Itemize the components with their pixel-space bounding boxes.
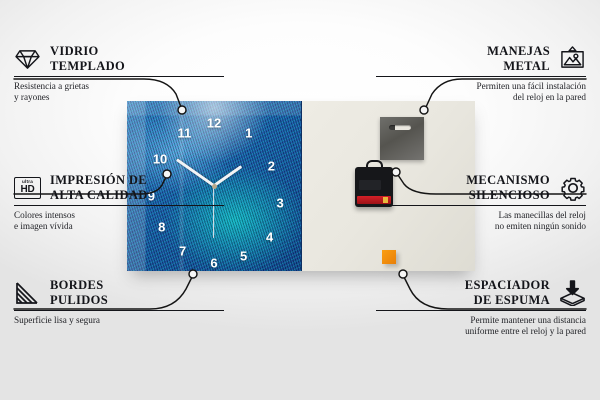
feature-desc-line1: Permite mantener una distancia [376,315,586,326]
feature-title-line1: IMPRESIÓN DE [50,173,148,188]
feature-desc-line2: no emiten ningún sonido [376,221,586,232]
clock-numeral-3: 3 [276,197,283,210]
foam-spacer-pad [382,250,396,264]
feature-title: MECANISMO SILENCIOSO [466,173,550,202]
feature-title: MANEJAS METAL [487,44,550,73]
feature-title-line2: TEMPLADO [50,59,125,74]
feature-header: BORDES PULIDOS [14,278,224,310]
connector-dot-bordes [189,270,197,278]
framed-picture-hanging-icon [559,45,586,72]
metal-hanger-plate [380,117,424,160]
clock-numeral-7: 7 [179,244,186,257]
mechanism-hanger-loop [366,160,383,169]
feature-title-line2: SILENCIOSO [466,188,550,203]
clock-numeral-2: 2 [268,159,275,172]
feature-desc-line1: Las manecillas del reloj [376,210,586,221]
feature-impresion-alta-calidad[interactable]: ultra HD IMPRESIÓN DE ALTA CALIDAD Color… [14,173,224,232]
feature-espaciador-de-espuma[interactable]: ESPACIADOR DE ESPUMA Permite mantener un… [376,278,586,337]
infographic-canvas: 12 1 2 3 4 5 6 7 8 9 10 11 [0,0,600,400]
feature-desc-line2: y rayones [14,92,224,103]
feature-header: MECANISMO SILENCIOSO [376,173,586,205]
feature-description: Permiten una fácil instalación del reloj… [376,77,586,103]
feature-title-line2: ALTA CALIDAD [50,188,148,203]
feature-description: Superficie lisa y segura [14,311,224,326]
feature-vidrio-templado[interactable]: VIDRIO TEMPLADO Resistencia a grietas y … [14,44,224,103]
feature-manejas-metal[interactable]: MANEJAS METAL Permiten una fácil instala… [376,44,586,103]
feature-description: Resistencia a grietas y rayones [14,77,224,103]
feature-mecanismo-silencioso[interactable]: MECANISMO SILENCIOSO Las manecillas del … [376,173,586,232]
clock-numeral-10: 10 [153,152,167,165]
feature-title-line2: METAL [487,59,550,74]
beveled-edge-icon [14,279,41,306]
feature-header: MANEJAS METAL [376,44,586,76]
feature-desc-line1: Superficie lisa y segura [14,315,224,326]
arrow-down-foam-icon [559,279,586,306]
feature-bordes-pulidos[interactable]: BORDES PULIDOS Superficie lisa y segura [14,278,224,326]
feature-desc-line1: Permiten una fácil instalación [376,81,586,92]
feature-header: VIDRIO TEMPLADO [14,44,224,76]
clock-numeral-6: 6 [210,256,217,269]
clock-numeral-12: 12 [207,117,221,130]
ultra-hd-icon-big-text: HD [20,185,34,195]
diamond-icon [14,45,41,72]
feature-description: Permite mantener una distancia uniforme … [376,311,586,337]
feature-title-line1: ESPACIADOR [465,278,550,293]
feature-title: VIDRIO TEMPLADO [50,44,125,73]
feature-title-line2: PULIDOS [50,293,108,308]
feature-title-line1: VIDRIO [50,44,125,59]
clock-numeral-1: 1 [245,127,252,140]
feature-title-line1: MANEJAS [487,44,550,59]
gear-icon [559,174,586,201]
feature-title-line1: BORDES [50,278,108,293]
ultra-hd-icon: ultra HD [14,174,41,201]
feature-desc-line2: uniforme entre el reloj y la pared [376,326,586,337]
feature-desc-line1: Resistencia a grietas [14,81,224,92]
feature-title-line1: MECANISMO [466,173,550,188]
feature-desc-line1: Colores intensos [14,210,224,221]
clock-numeral-4: 4 [266,231,273,244]
feature-title: ESPACIADOR DE ESPUMA [465,278,550,307]
feature-description: Colores intensos e imagen vívida [14,206,224,232]
feature-header: ESPACIADOR DE ESPUMA [376,278,586,310]
connector-dot-espaciador [399,270,407,278]
feature-description: Las manecillas del reloj no emiten ningú… [376,206,586,232]
clock-numeral-11: 11 [178,127,192,140]
feature-title: BORDES PULIDOS [50,278,108,307]
feature-title: IMPRESIÓN DE ALTA CALIDAD [50,173,148,202]
feature-header: ultra HD IMPRESIÓN DE ALTA CALIDAD [14,173,224,205]
feature-desc-line2: e imagen vívida [14,221,224,232]
clock-numeral-5: 5 [240,249,247,262]
feature-desc-line2: del reloj en la pared [376,92,586,103]
feature-title-line2: DE ESPUMA [465,293,550,308]
